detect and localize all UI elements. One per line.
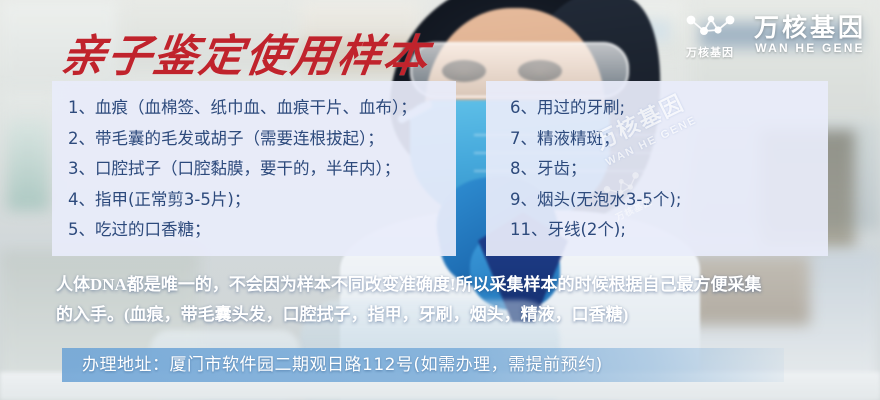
address-text: 办理地址：厦门市软件园二期观日路112号(如需办理，需提前预约) <box>82 350 603 380</box>
list-item: 4、指甲(正常剪3-5片)； <box>52 185 456 216</box>
brand-name-cn: 万核基因 <box>754 14 866 42</box>
description-paragraph: 人体DNA都是唯一的，不会因为样本不同改变准确度!所以采集样本的时候根据自己最方… <box>56 270 846 330</box>
brand-name-en: WAN HE GENE <box>755 42 865 55</box>
sample-list-panel-right: 6、用过的牙刷; 7、精液精斑； 8、牙齿； 9、烟头(无泡水3-5个); 11… <box>486 81 828 256</box>
list-item: 11、牙线(2个); <box>486 215 828 246</box>
logo-mark: 万核基因 <box>682 10 738 60</box>
molecule-icon <box>682 10 738 42</box>
brand-logo: 万核基因 万核基因 WAN HE GENE <box>682 10 866 60</box>
list-item: 6、用过的牙刷; <box>486 93 828 124</box>
list-item: 2、带毛囊的毛发或胡子（需要连根拔起）； <box>52 124 456 155</box>
list-item: 5、吃过的口香糖； <box>52 215 456 246</box>
list-item: 7、精液精斑； <box>486 124 828 155</box>
list-item: 8、牙齿； <box>486 154 828 185</box>
brand-name: 万核基因 WAN HE GENE <box>754 14 866 55</box>
sample-list-panel-left: 1、血痕（血棉签、纸巾血、血痕干片、血布）； 2、带毛囊的毛发或胡子（需要连根拔… <box>52 81 456 256</box>
sample-list-right: 6、用过的牙刷; 7、精液精斑； 8、牙齿； 9、烟头(无泡水3-5个); 11… <box>486 93 828 246</box>
list-item: 9、烟头(无泡水3-5个); <box>486 185 828 216</box>
description-line-2: 的入手。(血痕，带毛囊头发，口腔拭子，指甲，牙刷，烟头，精液，口香糖) <box>56 300 846 330</box>
list-item: 1、血痕（血棉签、纸巾血、血痕干片、血布）； <box>52 93 456 124</box>
list-item: 3、口腔拭子（口腔黏膜，要干的，半年内）； <box>52 154 456 185</box>
sample-list-left: 1、血痕（血棉签、纸巾血、血痕干片、血布）； 2、带毛囊的毛发或胡子（需要连根拔… <box>52 93 456 246</box>
logo-mark-label: 万核基因 <box>686 44 734 60</box>
poster-canvas: 亲子鉴定使用样本 万核基因 <box>0 0 880 400</box>
bg-shelf <box>8 120 48 210</box>
description-line-1: 人体DNA都是唯一的，不会因为样本不同改变准确度!所以采集样本的时候根据自己最方… <box>56 275 762 294</box>
page-title: 亲子鉴定使用样本 <box>58 20 435 84</box>
